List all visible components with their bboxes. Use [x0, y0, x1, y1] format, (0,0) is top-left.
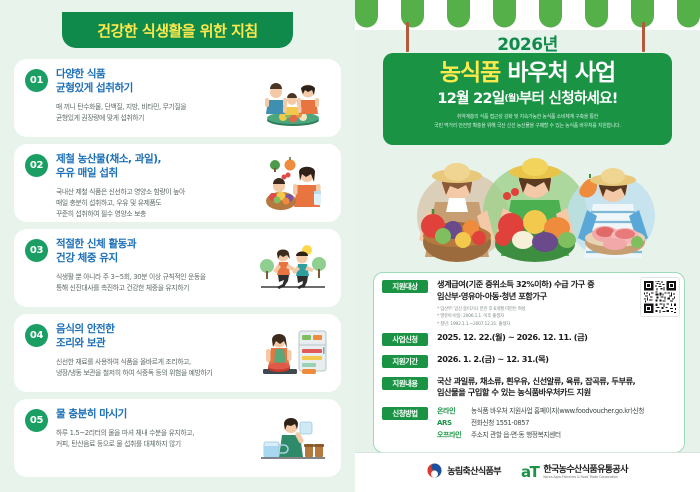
tip-card-04: 04 음식의 안전한 조리와 보관 신선한 재료를 사용하여 식품을 올바르게 … — [14, 314, 341, 392]
method-key: 오프라인 — [437, 430, 471, 440]
subtitle-weekday: (월) — [505, 94, 519, 104]
produce-basket-icon — [257, 155, 329, 213]
at-name-en: Korea Agro-Fisheries & Food Trade Corpor… — [543, 475, 627, 479]
farmers-with-produce-illustration — [385, 150, 670, 272]
info-label: 신청방법 — [382, 407, 428, 420]
at-name-block: 한국농수산식품유통공사 Korea Agro-Fisheries & Food … — [543, 466, 627, 480]
ministry-logo: 농림축산식품부 — [427, 463, 501, 482]
tip-number-badge: 03 — [25, 239, 48, 262]
footer-logo-bar: 농림축산식품부 aT 한국농수산식품유통공사 Korea Agro-Fisher… — [355, 452, 700, 492]
info-main-text: 생계급여(기준 중위소득 32%이하) 수급 가구 중 임산부·영유아·아동·청… — [437, 279, 676, 303]
program-title: 농식품 바우처 사업 — [391, 60, 664, 86]
info-label: 사업신청 — [382, 333, 428, 346]
tip-description: 국내산 제철 식품은 신선하고 영양소 함량이 높아 매일 충분히 섭취하고, … — [56, 187, 255, 220]
tip-number-badge: 04 — [25, 324, 48, 347]
tip-title: 다양한 식품 균형있게 섭취하기 — [56, 68, 255, 96]
drinking-water-icon — [257, 410, 329, 468]
program-year: 2026년 — [355, 30, 700, 55]
method-line-online: 온라인 농식품 바우처 지원사업 홈페이지(www.foodvoucher.go… — [437, 406, 676, 416]
at-corporation-logo: aT 한국농수산식품유통공사 Korea Agro-Fisheries & Fo… — [521, 465, 628, 480]
cooking-fridge-icon — [257, 325, 329, 383]
tip-text-block: 적절한 신체 활동과 건강 체중 유지 식생활 뿐 아니라 주 3~5회, 30… — [56, 238, 257, 299]
method-line-offline: 오프라인 주소지 관할 읍·면·동 행정복지센터 — [437, 430, 676, 440]
info-content: 온라인 농식품 바우처 지원사업 홈페이지(www.foodvoucher.go… — [428, 406, 676, 442]
ministry-name: 농림축산식품부 — [447, 468, 501, 478]
healthy-diet-guide-panel: 건강한 식생활을 위한 지침 01 다양한 식품 균형있게 섭취하기 매 끼니 … — [0, 0, 355, 492]
tip-description: 신선한 재료를 사용하여 식품을 올바르게 조리하고, 냉장/냉동 보관을 철저… — [56, 357, 255, 379]
program-title-board: 농식품 바우처 사업 12월 22일(월)부터 신청하세요! 취약계층의 식품 … — [383, 53, 672, 145]
method-value[interactable]: 농식품 바우처 지원사업 홈페이지(www.foodvoucher.go.kr)… — [471, 407, 676, 416]
voucher-program-panel: 2026년 농식품 바우처 사업 12월 22일(월)부터 신청하세요! 취약계… — [355, 0, 700, 492]
info-main-text: 2026. 1. 2.(금) ~ 12. 31.(목) — [437, 354, 676, 366]
program-subtitle: 12월 22일(월)부터 신청하세요! — [391, 87, 664, 108]
info-row-application-period: 사업신청 2025. 12. 22.(월) ~ 2026. 12. 11. (금… — [374, 333, 676, 346]
info-row-target: 지원대상 생계급여(기준 중위소득 32%이하) 수급 가구 중 임산부·영유아… — [374, 280, 676, 329]
family-meal-icon — [257, 70, 329, 128]
info-row-support-period: 지원기간 2026. 1. 2.(금) ~ 12. 31.(목) — [374, 355, 676, 368]
running-people-icon — [257, 240, 329, 298]
program-intro-text: 취약계층의 식품 접근성 강화 및 지속가능한 농식품 소비체계 구축을 통한 … — [391, 113, 664, 129]
info-row-application-method: 신청방법 온라인 농식품 바우처 지원사업 홈페이지(www.foodvouch… — [374, 407, 676, 442]
subtitle-date: 12월 22일 — [437, 91, 504, 107]
method-value: 전화신청 1551-0857 — [471, 419, 676, 428]
info-row-support-content: 지원내용 국산 과일류, 채소류, 흰우유, 신선알류, 육류, 잡곡류, 두부… — [374, 377, 676, 400]
tip-title: 음식의 안전한 조리와 보관 — [56, 323, 255, 351]
info-main-text: 2025. 12. 22.(월) ~ 2026. 12. 11. (금) — [437, 332, 676, 344]
guide-header-banner: 건강한 식생활을 위한 지침 — [62, 12, 293, 48]
info-main-text: 국산 과일류, 채소류, 흰우유, 신선알류, 육류, 잡곡류, 두부류, 임산… — [437, 376, 676, 400]
tip-text-block: 음식의 안전한 조리와 보관 신선한 재료를 사용하여 식품을 올바르게 조리하… — [56, 323, 257, 384]
method-line-ars: ARS 전화신청 1551-0857 — [437, 419, 676, 428]
tip-text-block: 다양한 식품 균형있게 섭취하기 매 끼니 탄수화물, 단백질, 지방, 비타민… — [56, 68, 257, 129]
info-content: 2026. 1. 2.(금) ~ 12. 31.(목) — [428, 355, 676, 368]
tip-card-02: 02 제철 농산물(채소, 과일), 우유 매일 섭취 국내산 제철 식품은 신… — [14, 144, 341, 222]
info-content: 국산 과일류, 채소류, 흰우유, 신선알류, 육류, 잡곡류, 두부류, 임산… — [428, 377, 676, 400]
tip-number-badge: 05 — [25, 409, 48, 432]
tip-text-block: 제철 농산물(채소, 과일), 우유 매일 섭취 국내산 제철 식품은 신선하고… — [56, 153, 257, 214]
poster-root: 건강한 식생활을 위한 지침 01 다양한 식품 균형있게 섭취하기 매 끼니 … — [0, 0, 700, 492]
tip-card-01: 01 다양한 식품 균형있게 섭취하기 매 끼니 탄수화물, 단백질, 지방, … — [14, 59, 341, 137]
tip-title: 적절한 신체 활동과 건강 체중 유지 — [56, 238, 255, 266]
guide-header-title: 건강한 식생활을 위한 지침 — [97, 20, 257, 41]
tip-description: 하루 1.5~2리터의 물을 마셔 체내 수분을 유지하고, 커피, 탄산음료 … — [56, 428, 255, 450]
at-name-ko: 한국농수산식품유통공사 — [543, 466, 627, 476]
taegeuk-icon — [427, 463, 442, 482]
at-wordmark-icon: aT — [521, 465, 538, 480]
tip-description: 매 끼니 탄수화물, 단백질, 지방, 비타민, 무기질을 균형있게 권장량에 … — [56, 102, 255, 124]
info-label: 지원기간 — [382, 355, 428, 368]
tip-title: 물 충분히 마시기 — [56, 408, 255, 422]
program-title-rest: 바우처 사업 — [500, 60, 615, 86]
tip-title: 제철 농산물(채소, 과일), 우유 매일 섭취 — [56, 153, 255, 181]
info-content: 생계급여(기준 중위소득 32%이하) 수급 가구 중 임산부·영유아·아동·청… — [428, 280, 676, 329]
program-title-highlight: 농식품 — [440, 60, 500, 86]
info-label: 지원내용 — [382, 377, 428, 390]
at-letter-a: aT — [521, 463, 538, 481]
tip-card-05: 05 물 충분히 마시기 하루 1.5~2리터의 물을 마셔 체내 수분을 유지… — [14, 399, 341, 477]
program-info-box: 지원대상 생계급여(기준 중위소득 32%이하) 수급 가구 중 임산부·영유아… — [373, 272, 685, 453]
tip-number-badge: 02 — [25, 154, 48, 177]
info-footnotes: * 임산부: 임신 중이거나 분만 후 6개월 미만인 여성 * 영유아·아동:… — [437, 306, 676, 329]
info-content: 2025. 12. 22.(월) ~ 2026. 12. 11. (금) — [428, 333, 676, 346]
tip-card-03: 03 적절한 신체 활동과 건강 체중 유지 식생활 뿐 아니라 주 3~5회,… — [14, 229, 341, 307]
method-key: 온라인 — [437, 406, 471, 416]
subtitle-action: 부터 신청하세요! — [519, 91, 618, 107]
tip-text-block: 물 충분히 마시기 하루 1.5~2리터의 물을 마셔 체내 수분을 유지하고,… — [56, 408, 257, 469]
tip-number-badge: 01 — [25, 69, 48, 92]
method-value: 주소지 관할 읍·면·동 행정복지센터 — [471, 431, 676, 440]
tip-description: 식생활 뿐 아니라 주 3~5회, 30분 이상 규칙적인 운동을 통해 신진대… — [56, 272, 255, 294]
method-key: ARS — [437, 419, 471, 427]
info-label: 지원대상 — [382, 280, 428, 293]
